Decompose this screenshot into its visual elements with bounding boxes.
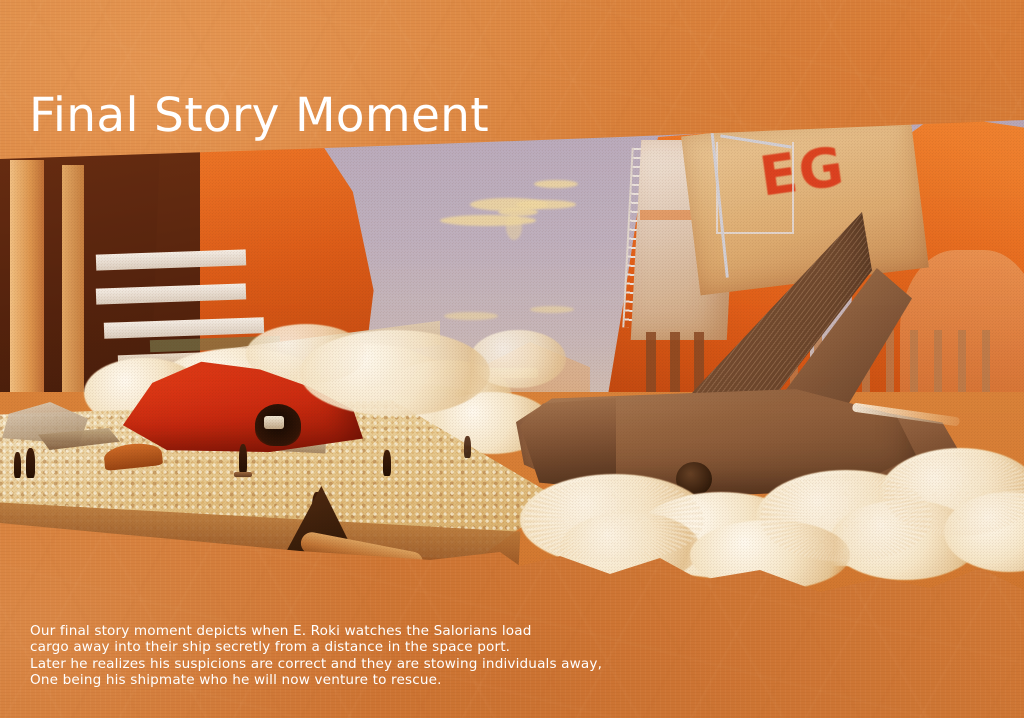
page-title: Final Story Moment xyxy=(29,92,489,139)
caption-text: Our final story moment depicts when E. R… xyxy=(30,623,670,689)
slide-root: EG xyxy=(0,0,1024,718)
